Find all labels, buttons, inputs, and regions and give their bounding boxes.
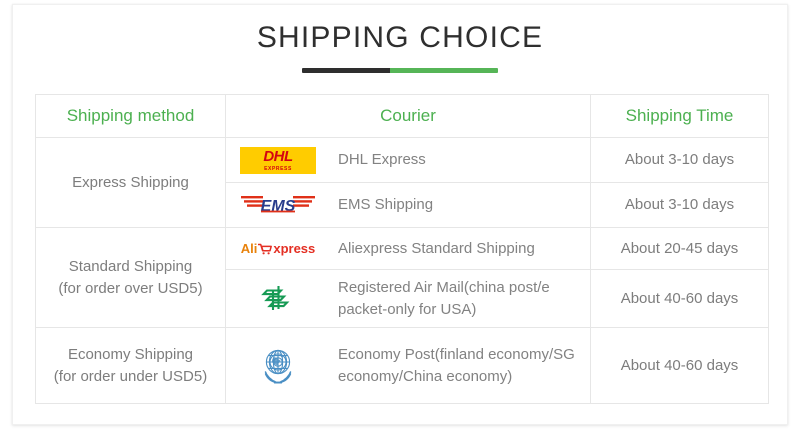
time-cell: About 40-60 days (591, 270, 769, 328)
courier-cell-ems: EMS EMS Shipping (226, 183, 591, 228)
method-cell-express: Express Shipping (36, 138, 226, 228)
time-cell: About 3-10 days (591, 183, 769, 228)
table-header-row: Shipping method Courier Shipping Time (36, 95, 769, 138)
china-post-logo (232, 281, 324, 317)
time-cell: About 3-10 days (591, 138, 769, 183)
aliexpress-logo-ali-text: Ali (241, 242, 258, 255)
page-title: SHIPPING CHOICE (13, 23, 787, 53)
courier-cell-aliexpress: Ali xpress (226, 228, 591, 270)
time-cell: About 40-60 days (591, 328, 769, 404)
aliexpress-logo: Ali xpress (232, 242, 324, 255)
courier-cell-china-post: Registered Air Mail(china post/e packet-… (226, 270, 591, 328)
courier-label: Registered Air Mail(china post/e packet-… (338, 277, 584, 321)
method-label-line2: (for order over USD5) (42, 278, 219, 300)
courier-cell-dhl: DHL EXPRESS DHL Express (226, 138, 591, 183)
table-body: Express Shipping DHL EXPRESS DHL Express (36, 138, 769, 404)
courier-label: Aliexpress Standard Shipping (338, 238, 535, 260)
table-row: Standard Shipping (for order over USD5) … (36, 228, 769, 270)
un-logo (232, 345, 324, 387)
method-cell-standard: Standard Shipping (for order over USD5) (36, 228, 226, 328)
shipping-table: Shipping method Courier Shipping Time Ex… (35, 94, 769, 404)
shipping-table-wrapper: Shipping method Courier Shipping Time Ex… (35, 94, 768, 404)
courier-label: EMS Shipping (338, 194, 433, 216)
dhl-logo: DHL EXPRESS (232, 147, 324, 174)
time-cell: About 20-45 days (591, 228, 769, 270)
method-label-line2: (for order under USD5) (42, 366, 219, 388)
title-block: SHIPPING CHOICE (13, 23, 787, 73)
column-header-shipping-method: Shipping method (36, 95, 226, 138)
aliexpress-logo-xpress-text: xpress (273, 242, 315, 255)
shipping-choice-card: SHIPPING CHOICE Shipping method Courier … (12, 4, 788, 425)
column-header-courier: Courier (226, 95, 591, 138)
shopping-cart-icon (258, 243, 272, 255)
svg-text:EMS: EMS (261, 198, 296, 215)
title-underline (302, 68, 498, 73)
table-header: Shipping method Courier Shipping Time (36, 95, 769, 138)
courier-label: Economy Post(finland economy/SG economy/… (338, 344, 584, 388)
column-header-shipping-time: Shipping Time (591, 95, 769, 138)
title-underline-green-segment (390, 68, 498, 73)
table-row: Express Shipping DHL EXPRESS DHL Express (36, 138, 769, 183)
title-underline-dark-segment (302, 68, 390, 73)
method-label-line1: Economy Shipping (42, 344, 219, 366)
courier-cell-economy-post: Economy Post(finland economy/SG economy/… (226, 328, 591, 404)
ems-logo: EMS (232, 193, 324, 217)
dhl-logo-wordmark: DHL (240, 149, 316, 164)
courier-label: DHL Express (338, 149, 426, 171)
dhl-logo-subtext: EXPRESS (240, 166, 316, 172)
table-row: Economy Shipping (for order under USD5) (36, 328, 769, 404)
method-cell-economy: Economy Shipping (for order under USD5) (36, 328, 226, 404)
method-label-line1: Standard Shipping (42, 256, 219, 278)
